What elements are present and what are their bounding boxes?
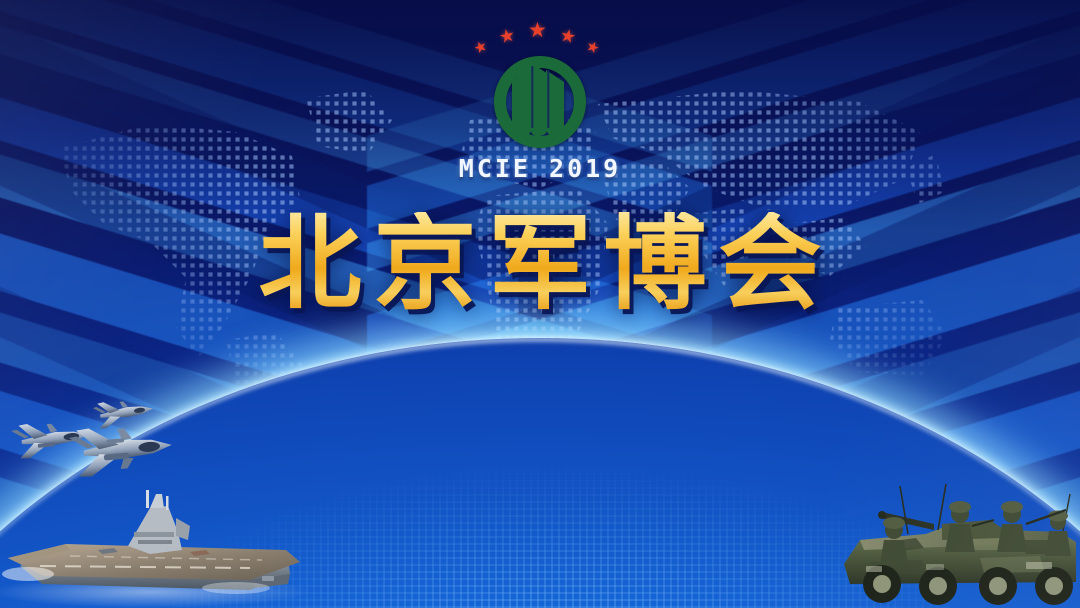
armored-personnel-carrier-image [830,480,1080,608]
five-red-stars: ★ ★ ★ ★ ★ [470,18,610,56]
fighter-jets-formation-image [6,392,221,497]
mcie-emblem-icon [486,52,594,152]
star-icon: ★ [497,26,517,47]
event-logo: ★ ★ ★ ★ ★ MCIE 2019 [0,18,1080,183]
page-title: 北京军博会 [0,212,1080,315]
star-icon: ★ [558,26,578,47]
military-expo-poster: ★ ★ ★ ★ ★ MCIE 2019 北京军博会 2 [0,0,1080,608]
star-icon: ★ [528,20,547,41]
logo-wordmark: MCIE 2019 [459,154,621,183]
aircraft-carrier-image [0,488,330,608]
